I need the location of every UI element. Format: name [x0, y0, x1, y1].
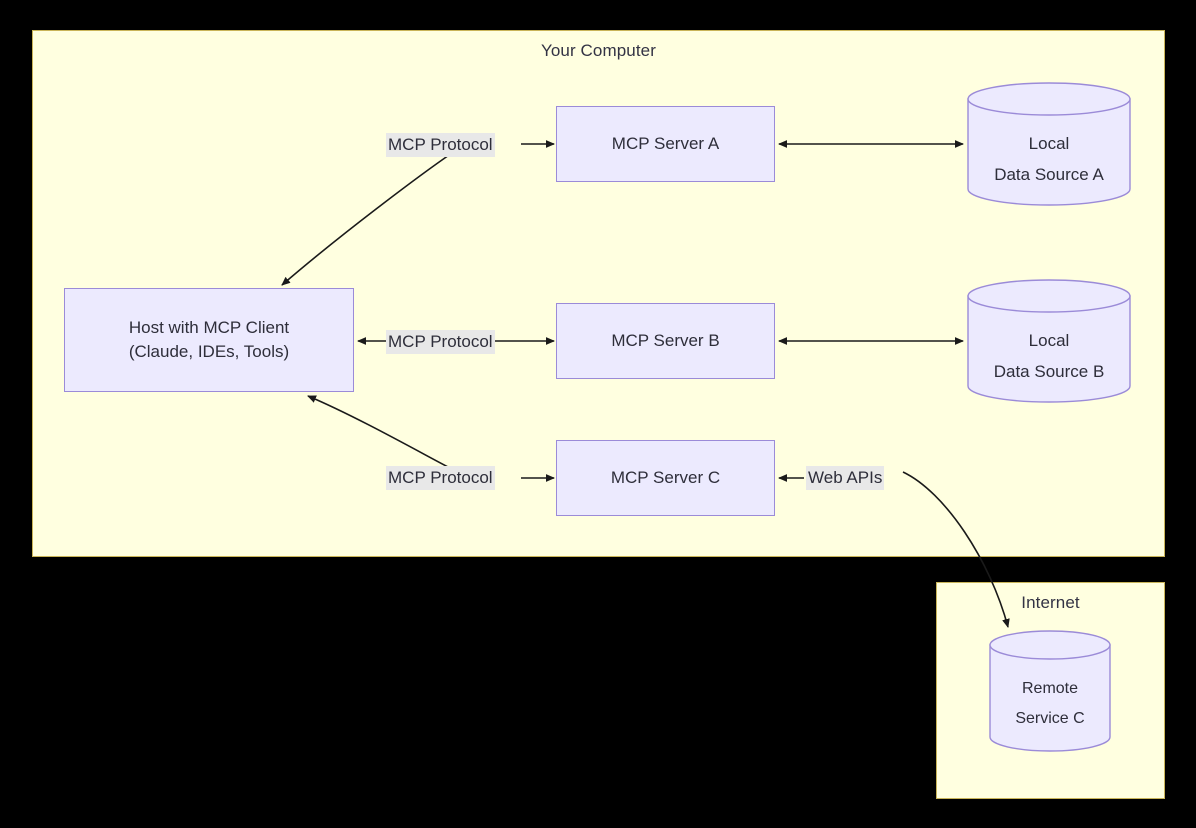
node-mcp-server-c[interactable]: MCP Server C	[556, 440, 775, 516]
edge-label-web-apis: Web APIs	[806, 466, 884, 490]
host-label-line2: (Claude, IDEs, Tools)	[129, 340, 289, 364]
node-local-data-source-b[interactable]: Local Data Source B	[967, 279, 1131, 403]
node-mcp-server-b[interactable]: MCP Server B	[556, 303, 775, 379]
host-label-line1: Host with MCP Client	[129, 316, 289, 340]
node-host-with-mcp-client[interactable]: Host with MCP Client (Claude, IDEs, Tool…	[64, 288, 354, 392]
node-local-data-source-a[interactable]: Local Data Source A	[967, 82, 1131, 206]
diagram-canvas: Your Computer Internet Host with MCP Cli…	[0, 0, 1196, 828]
node-mcp-server-a[interactable]: MCP Server A	[556, 106, 775, 182]
node-remote-service-c[interactable]: Remote Service C	[989, 630, 1111, 752]
mcp-server-a-label: MCP Server A	[612, 132, 719, 156]
mcp-server-b-label: MCP Server B	[611, 329, 719, 353]
mcp-server-c-label: MCP Server C	[611, 466, 720, 490]
edge-label-mcp-protocol-a: MCP Protocol	[386, 133, 495, 157]
edge-label-mcp-protocol-c: MCP Protocol	[386, 466, 495, 490]
container-your-computer-title: Your Computer	[33, 41, 1164, 61]
edge-label-mcp-protocol-b: MCP Protocol	[386, 330, 495, 354]
container-internet-title: Internet	[937, 593, 1164, 613]
database-cylinder-icon	[967, 279, 1131, 403]
database-cylinder-icon	[967, 82, 1131, 206]
database-cylinder-icon	[989, 630, 1111, 752]
